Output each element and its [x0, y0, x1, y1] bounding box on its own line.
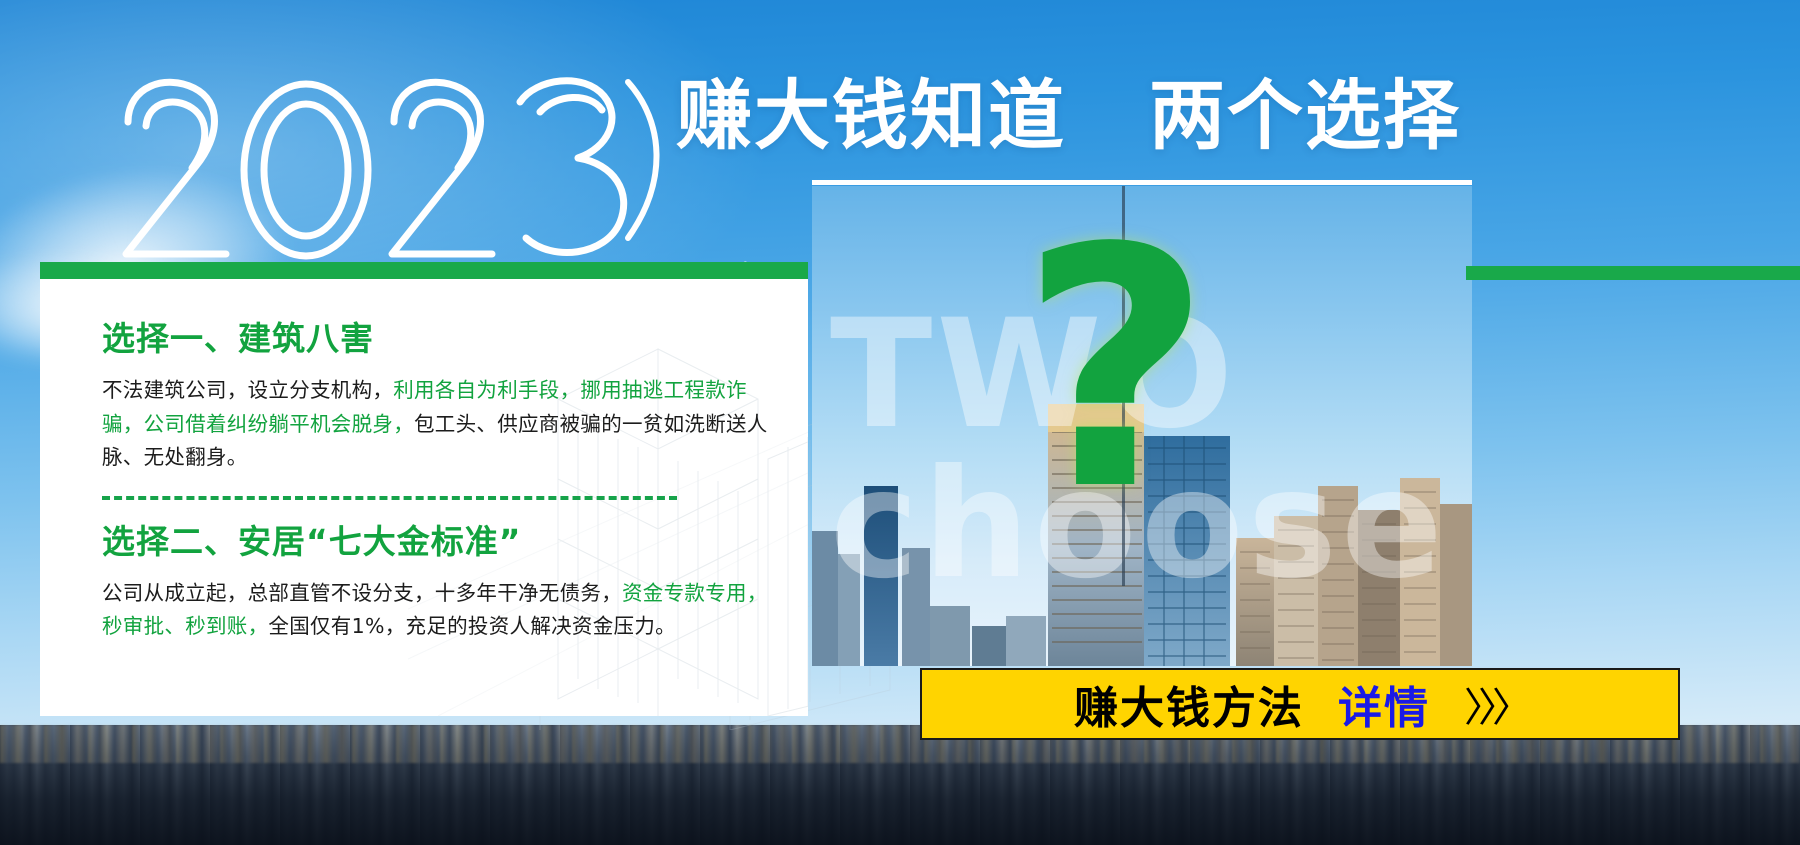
section-2-text-a: 公司从成立起，总部直管不设分支，十多年干净无债务， [102, 581, 622, 605]
section-1-body: 不法建筑公司，设立分支机构，利用各自为利手段，挪用抽逃工程款诈骗，公司借着纠纷躺… [102, 374, 772, 474]
question-mark-icon: ? [1020, 205, 1211, 535]
cta-main-label: 赚大钱方法 [1074, 672, 1304, 736]
card-section-1: 选择一、建筑八害 不法建筑公司，设立分支机构，利用各自为利手段，挪用抽逃工程款诈… [102, 321, 772, 474]
cta-button[interactable]: 赚大钱方法 详情 〉〉〉 [920, 668, 1680, 740]
card-section-2: 选择二、安居“七大金标准” 公司从成立起，总部直管不设分支，十多年干净无债务，资… [102, 524, 772, 644]
card-accent-bar [40, 262, 808, 279]
chevron-right-icon: 〉〉〉 [1464, 675, 1526, 733]
content-card: 选择一、建筑八害 不法建筑公司，设立分支机构，利用各自为利手段，挪用抽逃工程款诈… [40, 279, 808, 716]
section-2-body: 公司从成立起，总部直管不设分支，十多年干净无债务，资金专款专用，秒审批、秒到账，… [102, 577, 772, 643]
section-divider [102, 496, 677, 500]
cta-detail-label: 详情 [1338, 672, 1430, 736]
section-2-title: 选择二、安居“七大金标准” [102, 524, 772, 560]
page-title: 赚大钱知道 两个选择 [676, 78, 1461, 154]
right-green-bar [1466, 266, 1800, 280]
headline-left: 赚大钱知道 [676, 71, 1066, 160]
city-reflection-strip [0, 725, 1800, 845]
section-1-title: 选择一、建筑八害 [102, 321, 772, 357]
headline-right: 两个选择 [1149, 71, 1461, 160]
year-logo: 年 [108, 62, 708, 277]
section-1-text-a: 不法建筑公司，设立分支机构， [102, 378, 393, 402]
card-body: 选择一、建筑八害 不法建筑公司，设立分支机构，利用各自为利手段，挪用抽逃工程款诈… [40, 279, 808, 644]
poster-stage: 年 赚大钱知道 两个选择 [0, 0, 1800, 845]
section-2-text-c: 全国仅有1%，充足的投资人解决资金压力。 [268, 614, 676, 638]
